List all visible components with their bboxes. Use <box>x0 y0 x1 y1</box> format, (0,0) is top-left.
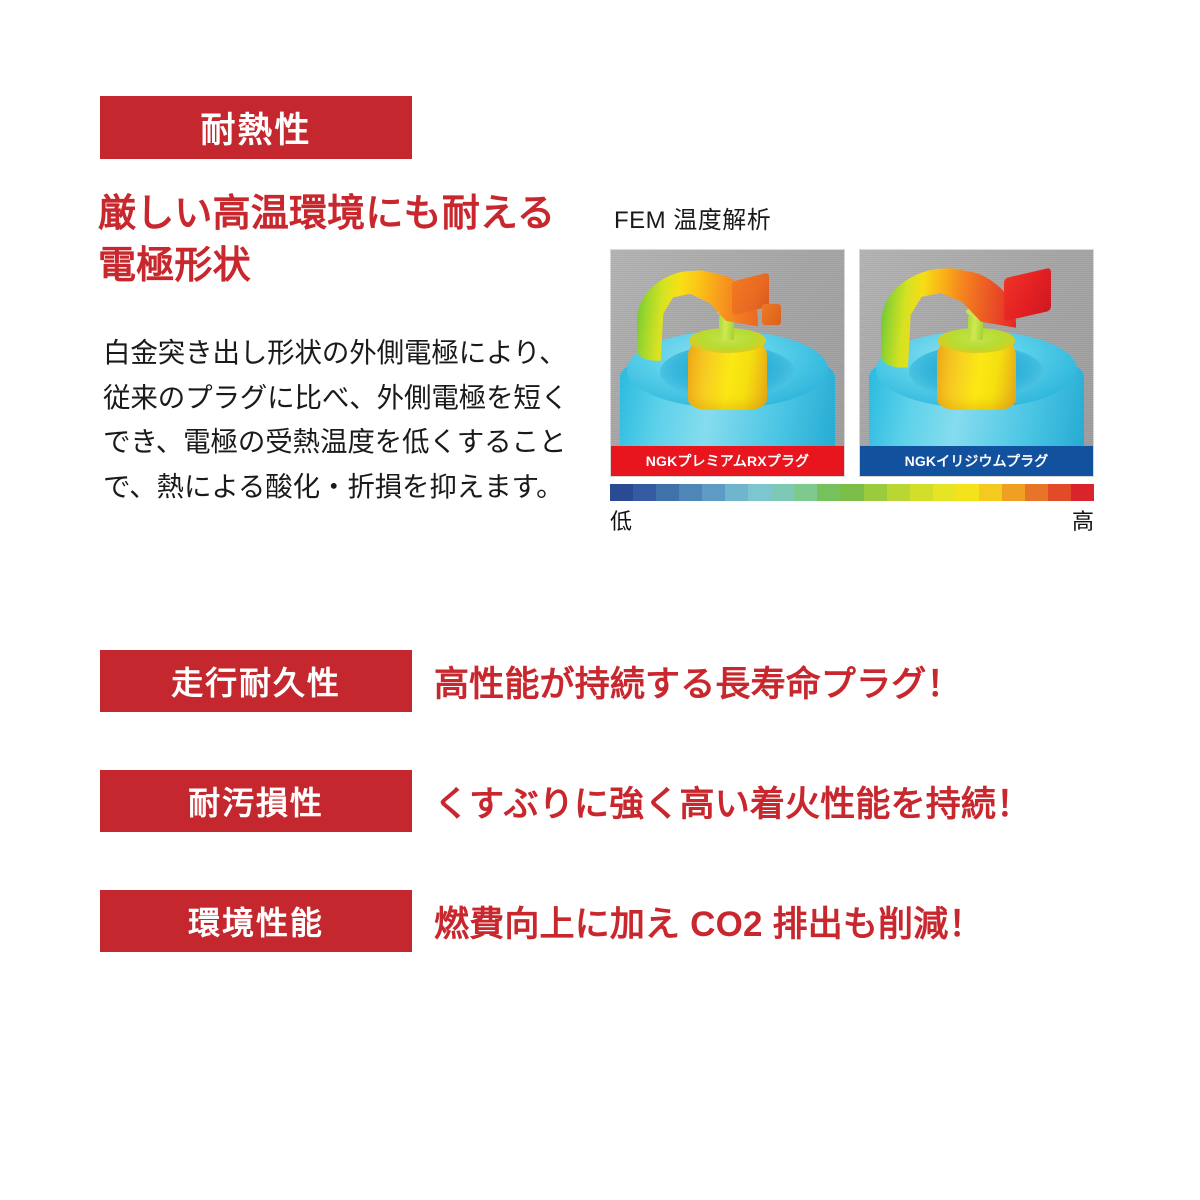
feature-badge: 走行耐久性 <box>100 650 412 712</box>
feature-badge: 耐汚損性 <box>100 770 412 832</box>
scale-band-0 <box>610 484 633 501</box>
scale-band-15 <box>956 484 979 501</box>
scale-band-2 <box>656 484 679 501</box>
scale-band-12 <box>887 484 910 501</box>
scale-band-17 <box>1002 484 1025 501</box>
temperature-scale-labels: 低 高 <box>610 504 1094 536</box>
temperature-color-scale <box>610 484 1094 501</box>
headline-line-2: 電極形状 <box>98 240 598 292</box>
fem-panel-caption-premium-rx: NGKプレミアムRXプラグ <box>611 446 844 476</box>
scale-band-1 <box>633 484 656 501</box>
scale-band-4 <box>702 484 725 501</box>
scale-band-20 <box>1071 484 1094 501</box>
fem-panel-premium-rx: NGKプレミアムRXプラグ <box>610 249 845 477</box>
heat-resistance-headline: 厳しい高温環境にも耐える 電極形状 <box>98 188 598 293</box>
scale-band-14 <box>933 484 956 501</box>
feature-row: 耐汚損性 くすぶりに強く高い着火性能を持続！ <box>100 770 1031 832</box>
feature-row: 走行耐久性 高性能が持続する長寿命プラグ！ <box>100 650 962 712</box>
fem-analysis-block: FEM 温度解析 NGKプレミアムRXプラグ N <box>610 200 1094 536</box>
ground-electrode-tip <box>1004 267 1051 321</box>
scale-band-3 <box>679 484 702 501</box>
scale-band-5 <box>725 484 748 501</box>
scale-band-10 <box>840 484 863 501</box>
scale-band-11 <box>864 484 887 501</box>
heat-resistance-body-text: 白金突き出し形状の外側電極により、従来のプラグに比べ、外側電極を短くでき、電極の… <box>103 331 583 509</box>
scale-band-13 <box>910 484 933 501</box>
platinum-tip-nub <box>762 304 781 324</box>
fem-panel-caption-iridium: NGKイリジウムプラグ <box>860 446 1093 476</box>
scale-band-18 <box>1025 484 1048 501</box>
feature-row: 環境性能 燃費向上に加え CO2 排出も削減！ <box>100 890 984 952</box>
scale-band-6 <box>748 484 771 501</box>
fem-panel-iridium: NGKイリジウムプラグ <box>859 249 1094 477</box>
scale-band-8 <box>794 484 817 501</box>
feature-badge: 環境性能 <box>100 890 412 952</box>
scale-low-label: 低 <box>610 504 632 536</box>
feature-text: 燃費向上に加え CO2 排出も削減！ <box>434 896 984 947</box>
scale-band-19 <box>1048 484 1071 501</box>
fem-panel-group: NGKプレミアムRXプラグ NGKイリジウムプラグ <box>610 249 1094 477</box>
headline-line-1: 厳しい高温環境にも耐える <box>98 188 598 240</box>
fem-analysis-title: FEM 温度解析 <box>614 200 1094 235</box>
feature-text: くすぶりに強く高い着火性能を持続！ <box>434 776 1031 827</box>
scale-band-9 <box>817 484 840 501</box>
scale-band-7 <box>771 484 794 501</box>
heat-resistance-badge: 耐熱性 <box>100 96 412 159</box>
scale-band-16 <box>979 484 1002 501</box>
scale-high-label: 高 <box>1072 504 1094 536</box>
feature-text: 高性能が持続する長寿命プラグ！ <box>434 656 962 707</box>
